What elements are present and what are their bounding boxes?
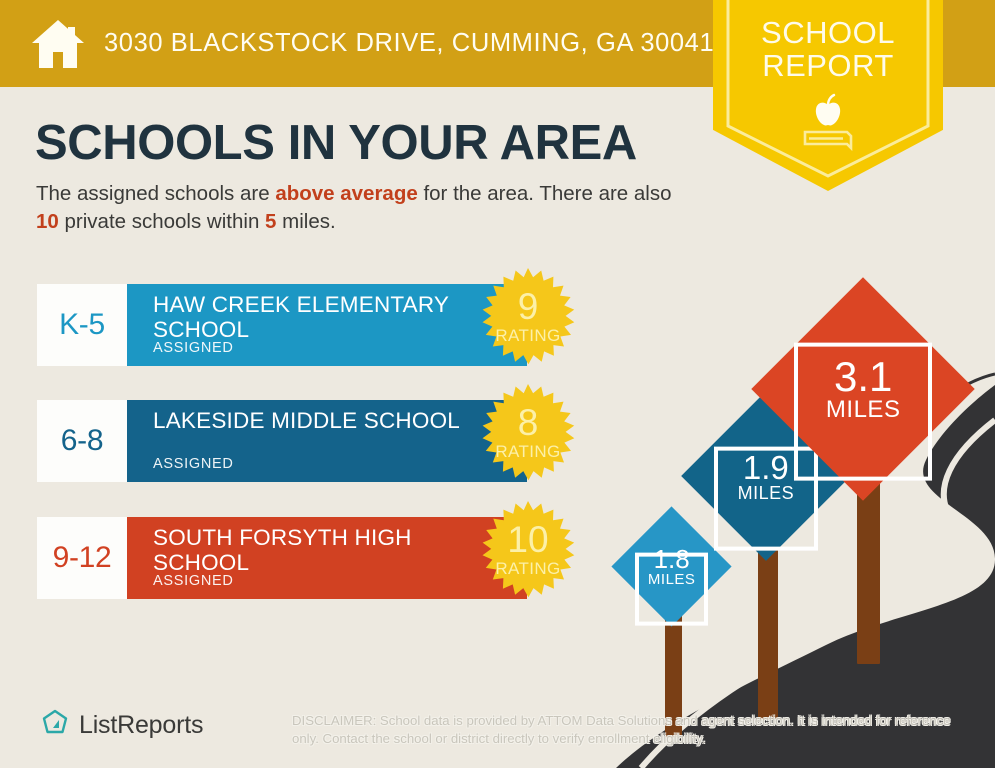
sign-diamond: 3.1 MILES — [751, 277, 974, 500]
badge-icons — [713, 92, 943, 157]
book-icon — [805, 132, 851, 148]
school-name: LAKESIDE MIDDLE SCHOOL — [153, 408, 503, 433]
disclaimer-text: DISCLAIMER: School data is provided by A… — [292, 712, 952, 748]
sign-distance-value: 3.1 — [826, 356, 901, 398]
badge-line-2: REPORT — [713, 49, 943, 82]
school-info-bar: SOUTH FORSYTH HIGH SCHOOL ASSIGNED — [127, 517, 527, 599]
school-status: ASSIGNED — [153, 573, 234, 589]
subtitle-part-3: private schools within — [59, 210, 265, 233]
subtitle-part-1: The assigned schools are — [36, 182, 275, 205]
rating-value: 9 — [471, 288, 585, 326]
page-subtitle: The assigned schools are above average f… — [36, 180, 696, 236]
listreports-logo: ListReports — [40, 708, 203, 743]
subtitle-highlight-1: above average — [275, 182, 417, 205]
rating-starburst-badge: 10 RATING — [471, 501, 585, 615]
header-content: 3030 BLACKSTOCK DRIVE, CUMMING, GA 30041 — [30, 0, 714, 87]
subtitle-highlight-2: 10 — [36, 210, 59, 233]
sign-text: 3.1 MILES — [826, 356, 901, 422]
school-info-bar: HAW CREEK ELEMENTARY SCHOOL ASSIGNED — [127, 284, 527, 366]
distance-sign: 3.1 MILES — [768, 294, 973, 664]
grade-range-label: K-5 — [59, 308, 105, 342]
rating-starburst-badge: 9 RATING — [471, 268, 585, 382]
badge-title: SCHOOL REPORT — [713, 16, 943, 82]
school-name: SOUTH FORSYTH HIGH SCHOOL — [153, 525, 503, 575]
school-report-infographic: 3030 BLACKSTOCK DRIVE, CUMMING, GA 30041… — [0, 0, 995, 768]
listreports-house-icon — [40, 708, 70, 743]
grade-range-box: K-5 — [37, 284, 127, 366]
sign-distance-unit: MILES — [826, 398, 901, 422]
rating-label: RATING — [471, 559, 585, 579]
grade-range-label: 9-12 — [53, 541, 112, 575]
apple-icon — [816, 95, 840, 125]
school-info-bar: LAKESIDE MIDDLE SCHOOL ASSIGNED — [127, 400, 527, 482]
house-icon — [30, 18, 86, 70]
property-address: 3030 BLACKSTOCK DRIVE, CUMMING, GA 30041 — [104, 29, 714, 58]
badge-line-1: SCHOOL — [713, 16, 943, 49]
grade-range-box: 6-8 — [37, 400, 127, 482]
subtitle-highlight-3: 5 — [265, 210, 276, 233]
school-name: HAW CREEK ELEMENTARY SCHOOL — [153, 292, 503, 342]
sign-text: 1.8 MILES — [648, 546, 696, 587]
rating-label: RATING — [471, 442, 585, 462]
subtitle-part-2: for the area. There are also — [418, 182, 672, 205]
rating-label: RATING — [471, 326, 585, 346]
grade-range-box: 9-12 — [37, 517, 127, 599]
subtitle-part-4: miles. — [276, 210, 335, 233]
rating-value: 8 — [471, 404, 585, 442]
rating-starburst-badge: 8 RATING — [471, 384, 585, 498]
page-title: SCHOOLS IN YOUR AREA — [35, 115, 637, 171]
sign-distance-unit: MILES — [648, 572, 696, 587]
listreports-logo-text: ListReports — [79, 711, 203, 740]
road-illustration: 1.8 MILES 1.9 MILES 3.1 MILES — [596, 300, 995, 768]
rating-value: 10 — [471, 521, 585, 559]
school-status: ASSIGNED — [153, 340, 234, 356]
sign-distance-value: 1.8 — [648, 546, 696, 572]
grade-range-label: 6-8 — [61, 424, 103, 458]
school-status: ASSIGNED — [153, 456, 234, 472]
school-report-badge: SCHOOL REPORT — [713, 0, 943, 191]
